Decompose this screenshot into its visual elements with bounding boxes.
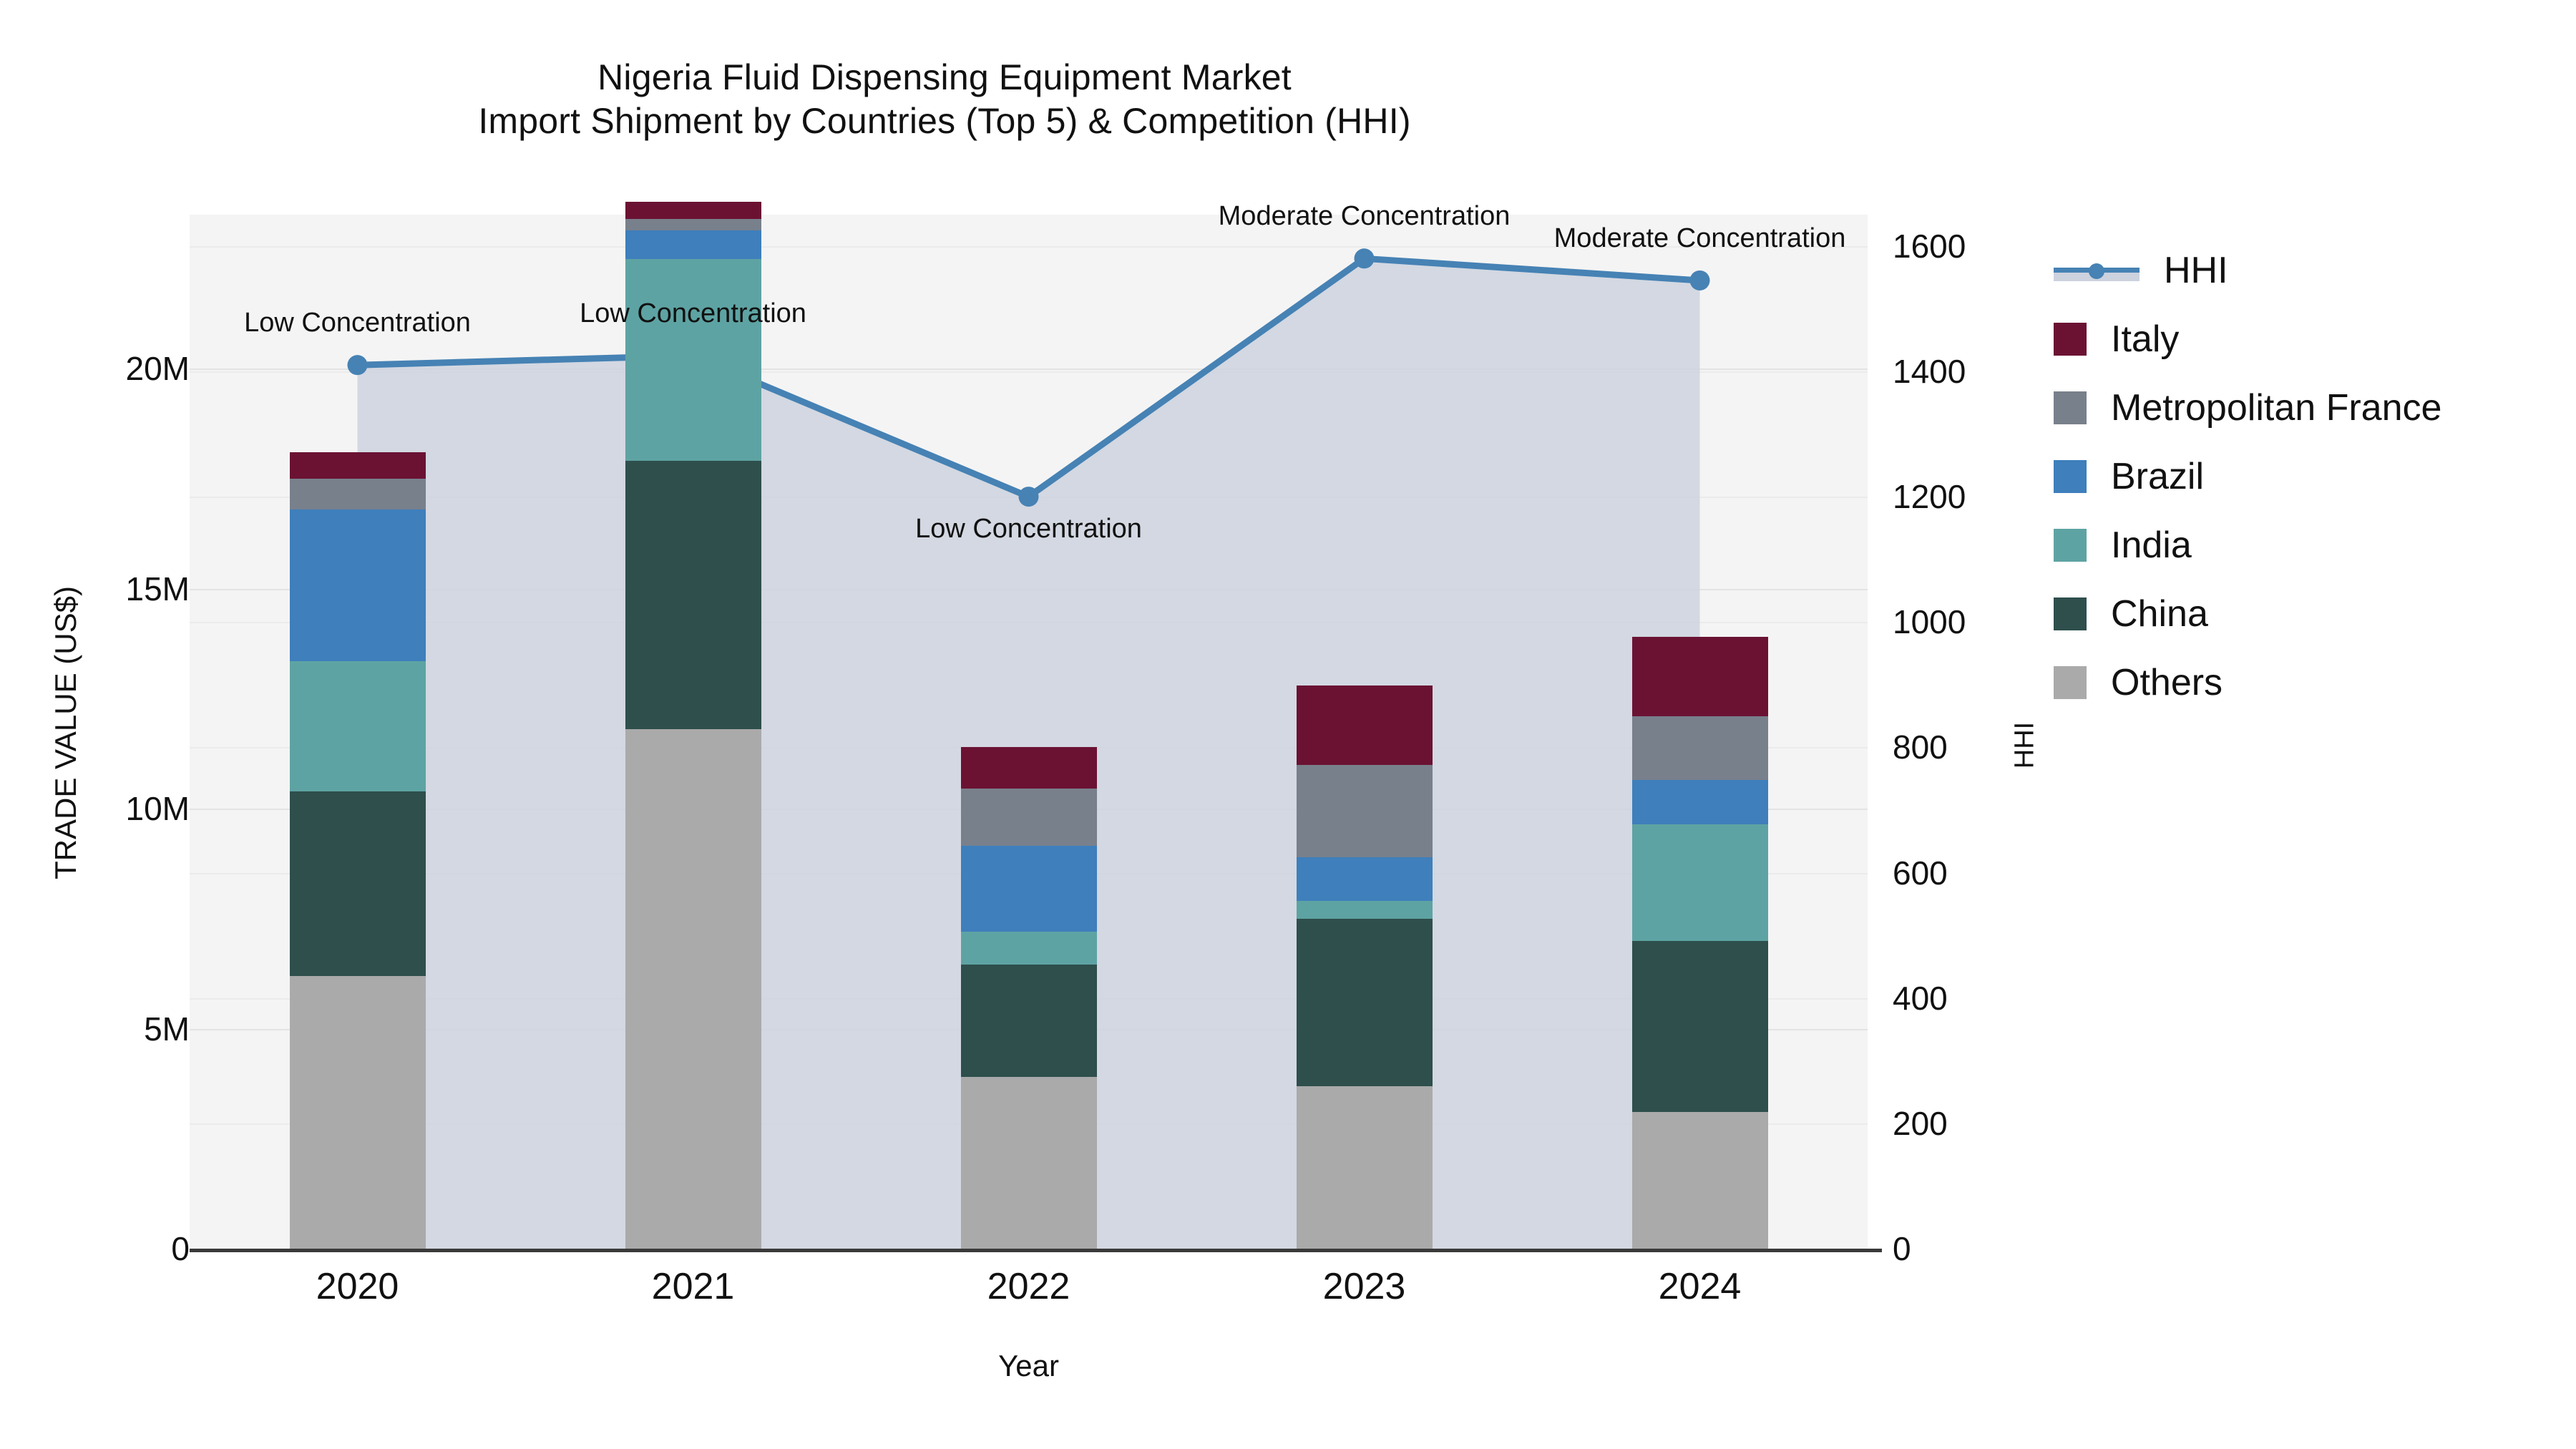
legend-item-metropolitan-france[interactable]: Metropolitan France bbox=[2054, 374, 2569, 442]
legend-item-india[interactable]: India bbox=[2054, 511, 2569, 580]
legend: HHIItalyMetropolitan FranceBrazilIndiaCh… bbox=[2054, 236, 2569, 717]
legend-label: Italy bbox=[2111, 318, 2179, 361]
annotation-2024: Moderate Concentration bbox=[1554, 223, 1846, 254]
annotation-layer: Low ConcentrationLow ConcentrationLow Co… bbox=[0, 0, 2576, 1449]
x-axis-label: Year bbox=[190, 1349, 1868, 1383]
annotation-2022: Low Concentration bbox=[915, 514, 1142, 545]
legend-label: Metropolitan France bbox=[2111, 386, 2441, 429]
annotation-2020: Low Concentration bbox=[244, 308, 471, 338]
legend-item-brazil[interactable]: Brazil bbox=[2054, 442, 2569, 511]
legend-label: Others bbox=[2111, 661, 2223, 704]
legend-line-marker-icon bbox=[2089, 263, 2104, 279]
y-axis-right-label: HHI bbox=[2010, 638, 2041, 853]
legend-label: China bbox=[2111, 592, 2208, 635]
legend-item-hhi[interactable]: HHI bbox=[2054, 236, 2569, 305]
legend-item-others[interactable]: Others bbox=[2054, 648, 2569, 717]
legend-swatch-icon bbox=[2054, 460, 2087, 493]
annotation-2023: Moderate Concentration bbox=[1219, 201, 1511, 232]
legend-label: HHI bbox=[2164, 249, 2228, 292]
legend-label: Brazil bbox=[2111, 455, 2204, 498]
annotation-2021: Low Concentration bbox=[580, 298, 806, 329]
legend-swatch-icon bbox=[2054, 666, 2087, 699]
y-axis-left-label: TRADE VALUE (US$) bbox=[49, 482, 83, 983]
legend-swatch-icon bbox=[2054, 529, 2087, 562]
legend-item-china[interactable]: China bbox=[2054, 580, 2569, 648]
legend-swatch-icon bbox=[2054, 597, 2087, 630]
legend-swatch-icon bbox=[2054, 391, 2087, 424]
legend-swatch-icon bbox=[2054, 323, 2087, 356]
legend-line-icon bbox=[2054, 254, 2140, 287]
legend-item-italy[interactable]: Italy bbox=[2054, 305, 2569, 374]
legend-label: India bbox=[2111, 524, 2192, 567]
